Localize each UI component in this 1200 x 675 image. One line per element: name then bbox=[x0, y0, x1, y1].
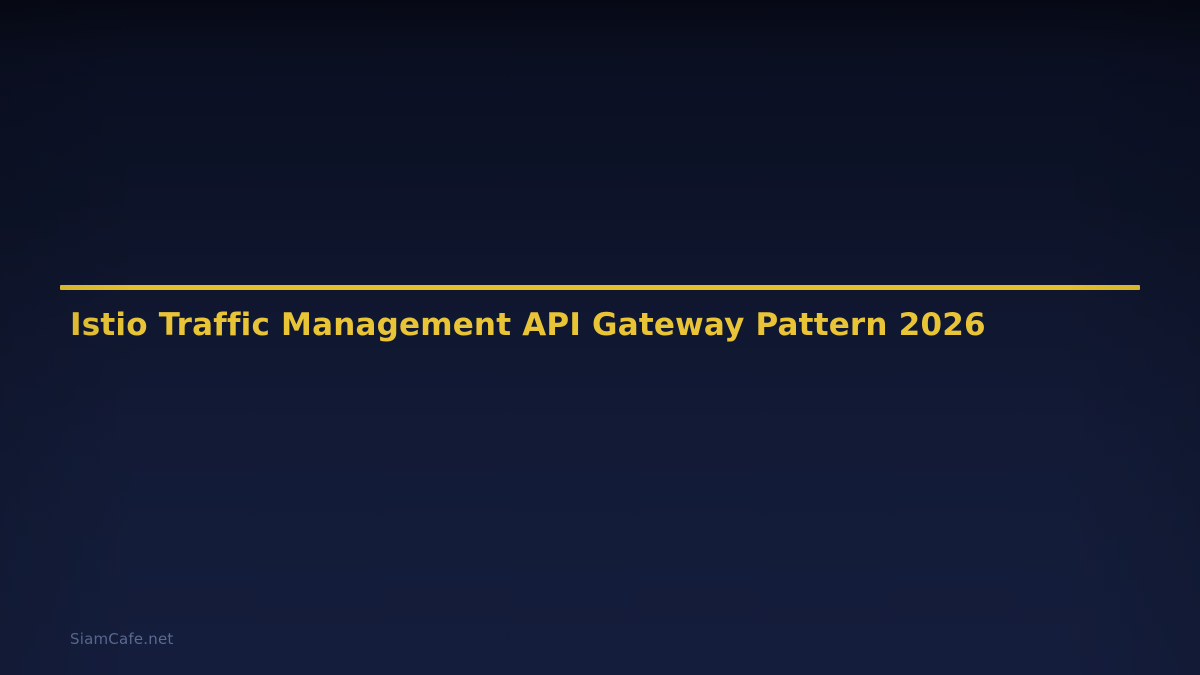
gold-accent-bar bbox=[60, 285, 1140, 290]
title-block: Istio Traffic Management API Gateway Pat… bbox=[60, 285, 1140, 290]
title-slide: Istio Traffic Management API Gateway Pat… bbox=[0, 0, 1200, 675]
watermark-label: SiamCafe.net bbox=[70, 630, 173, 648]
page-title: Istio Traffic Management API Gateway Pat… bbox=[70, 307, 986, 344]
